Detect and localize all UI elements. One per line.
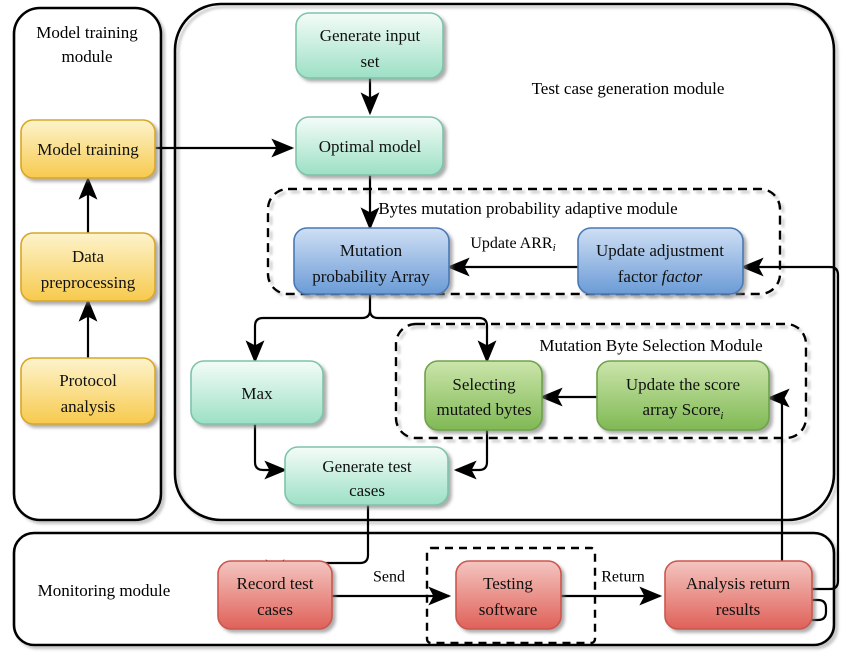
node-mutation-probability-array[interactable]: Mutation probability Array — [294, 228, 449, 294]
node-max[interactable]: Max — [191, 361, 323, 424]
node-label-data-preprocessing-2: preprocessing — [41, 273, 136, 292]
node-label-score-2: array Scorei — [643, 400, 724, 422]
node-label-update-factor-2: factor factor — [618, 267, 703, 286]
node-label-score-1: Update the score — [626, 375, 740, 394]
node-selecting-mutated-bytes[interactable]: Selecting mutated bytes — [425, 361, 542, 430]
node-label-selecting-1: Selecting — [452, 375, 516, 394]
node-label-protocol-analysis-2: analysis — [61, 397, 116, 416]
factor-plain: factor — [618, 267, 662, 286]
node-label-optimal-model: Optimal model — [319, 137, 422, 156]
update-arr-text: Update ARR — [470, 235, 553, 252]
edge-label-return: Return — [601, 569, 645, 586]
node-update-adjustment-factor[interactable]: Update adjustment factor factor — [578, 228, 743, 294]
module-title-test-case-generation: Test case generation module — [532, 79, 725, 98]
update-arr-subscript-i: i — [553, 242, 556, 254]
node-label-generate-test-cases-1: Generate test — [322, 457, 411, 476]
node-generate-test-cases[interactable]: Generate test cases — [285, 447, 448, 505]
module-title-monitoring: Monitoring module — [38, 581, 171, 600]
node-label-protocol-analysis-1: Protocol — [59, 371, 117, 390]
diagram-canvas: Model training module Test case generati… — [0, 0, 846, 654]
node-generate-input-set[interactable]: Generate input set — [296, 13, 443, 78]
node-label-selecting-2: mutated bytes — [437, 400, 532, 419]
node-label-record-1: Record test — [237, 574, 314, 593]
edge-label-update-arr: Update ARRi — [470, 235, 555, 254]
node-label-testing-2: software — [479, 600, 538, 619]
node-label-generate-input-set-2: set — [361, 52, 380, 71]
module-title-mutation-byte-selection: Mutation Byte Selection Module — [539, 336, 762, 355]
edge-mutationarray-to-max — [255, 294, 370, 361]
node-label-testing-1: Testing — [483, 574, 533, 593]
node-model-training[interactable]: Model training — [21, 120, 155, 178]
edge-label-send: Send — [373, 569, 405, 586]
node-label-model-training: Model training — [37, 140, 139, 159]
flowchart-svg: Model training module Test case generati… — [0, 0, 846, 654]
node-update-score-array[interactable]: Update the score array Scorei — [597, 361, 769, 430]
node-label-analysis-2: results — [716, 600, 760, 619]
node-label-update-factor-1: Update adjustment — [596, 241, 724, 260]
node-testing-software[interactable]: Testing software — [456, 561, 561, 629]
node-label-generate-test-cases-2: cases — [349, 481, 385, 500]
node-label-mutation-array-1: Mutation — [340, 241, 403, 260]
node-label-analysis-1: Analysis return — [686, 574, 791, 593]
edge-max-to-generatetests — [255, 424, 285, 470]
module-title-bytes-mutation: Bytes mutation probability adaptive modu… — [378, 199, 677, 218]
node-label-max: Max — [241, 384, 273, 403]
edge-mutationarray-to-selecting — [370, 310, 487, 361]
node-record-test-cases[interactable]: Record test cases — [218, 561, 332, 629]
node-optimal-model[interactable]: Optimal model — [296, 117, 443, 175]
module-title-model-training-line1: Model training — [36, 23, 138, 42]
node-analysis-return-results[interactable]: Analysis return results — [665, 561, 812, 629]
edge-selecting-to-generatetests — [456, 430, 487, 470]
score-text: array Score — [643, 400, 721, 419]
node-protocol-analysis[interactable]: Protocol analysis — [21, 358, 155, 424]
factor-italic: factor — [662, 267, 703, 286]
node-label-generate-input-set-1: Generate input — [320, 26, 421, 45]
score-subscript-i: i — [720, 410, 723, 422]
module-title-model-training-line2: module — [62, 47, 113, 66]
node-data-preprocessing[interactable]: Data preprocessing — [21, 233, 155, 301]
node-label-record-2: cases — [257, 600, 293, 619]
node-label-data-preprocessing-1: Data — [72, 247, 105, 266]
node-label-mutation-array-2: probability Array — [312, 267, 430, 286]
